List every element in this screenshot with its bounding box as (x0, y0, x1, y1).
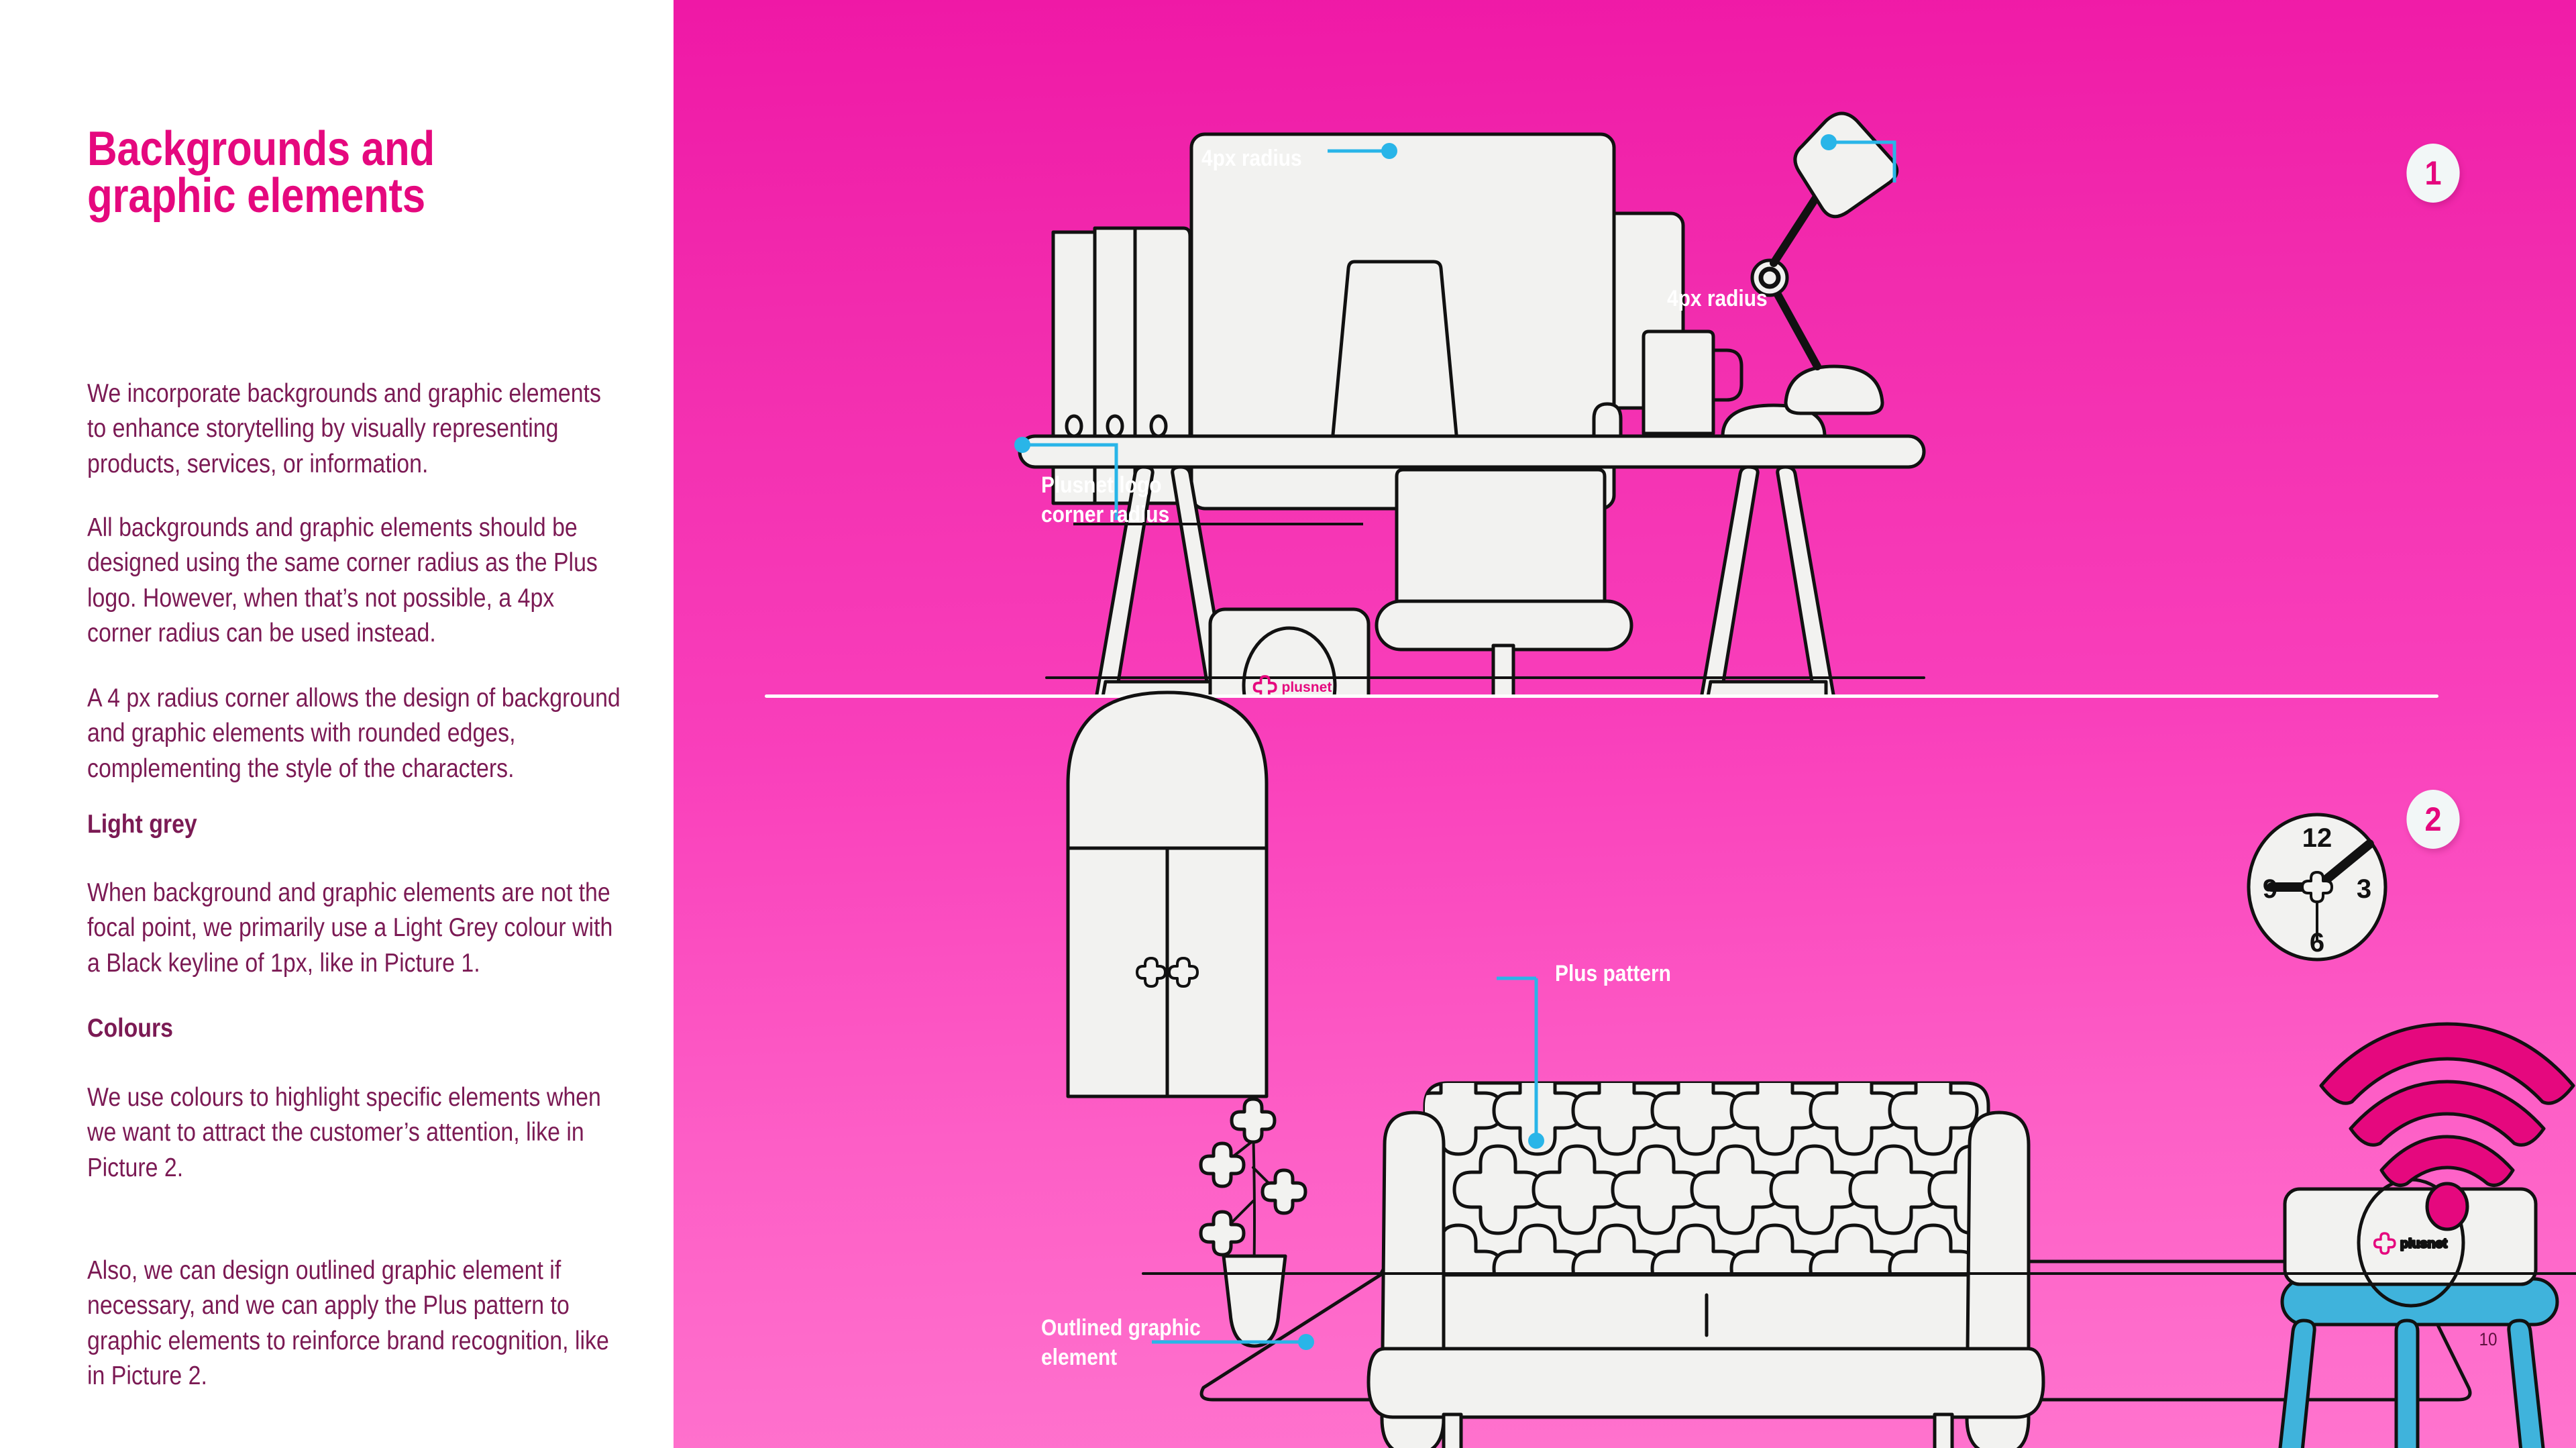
paragraph-colours-2: Also, we can design outlined graphic ele… (87, 1253, 621, 1394)
page-number: 10 (2479, 1329, 2498, 1350)
svg-text:plusnet: plusnet (2400, 1236, 2447, 1251)
paragraph-rounded-edges: A 4 px radius corner allows the design o… (87, 681, 621, 786)
paragraph-colours-1: We use colours to highlight specific ele… (87, 1080, 621, 1186)
page-title: Backgrounds and graphic elements (87, 126, 549, 220)
arched-window (1068, 692, 1267, 1096)
callout-4px-radius-monitor: 4px radius (1201, 144, 1302, 174)
potted-plant (1201, 1099, 1305, 1346)
paragraph-light-grey: When background and graphic elements are… (87, 876, 621, 981)
callout-plusnet-logo-corner-radius: Plusnet logo corner radius (1041, 471, 1169, 529)
paragraph-intro: We incorporate backgrounds and graphic e… (87, 376, 621, 482)
patterned-sofa (1368, 1067, 2043, 1448)
heading-light-grey: Light grey (87, 808, 621, 841)
illustration-panel: 1 2 (674, 0, 2576, 1448)
callout-4px-radius-lamp: 4px radius (1667, 285, 1768, 314)
callout-plus-pattern: Plus pattern (1555, 960, 1671, 989)
left-text-panel: Backgrounds and graphic elements We inco… (0, 0, 674, 1448)
wall-clock (2249, 815, 2385, 960)
paragraph-corner-radius: All backgrounds and graphic elements sho… (87, 511, 621, 651)
callout-outlined-graphic-element: Outlined graphic element (1041, 1314, 1201, 1372)
living-room-illustration: plusnet (674, 0, 2576, 1448)
text-column: Backgrounds and graphic elements We inco… (87, 126, 624, 220)
heading-colours: Colours (87, 1012, 621, 1045)
